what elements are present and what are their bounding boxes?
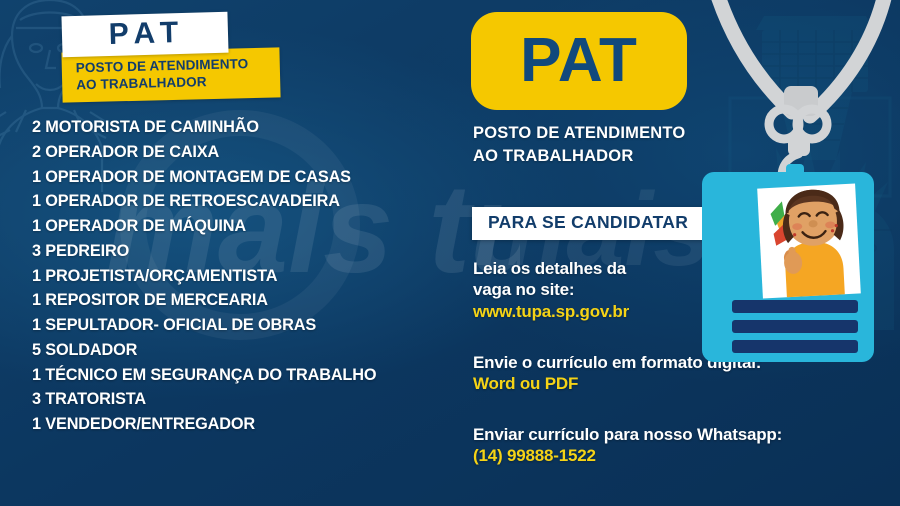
job-list-item: 1 VENDEDOR/ENTREGADOR	[32, 412, 452, 437]
job-list-item: 1 REPOSITOR DE MERCEARIA	[32, 288, 452, 313]
job-vacancy-list: 2 MOTORISTA DE CAMINHÃO 2 OPERADOR DE CA…	[32, 115, 452, 437]
id-card	[702, 164, 874, 362]
left-column: PAT POSTO DE ATENDIMENTO AO TRABALHADOR …	[0, 0, 460, 506]
whatsapp-line1: Enviar currículo para nosso Whatsapp:	[473, 424, 873, 445]
pat-logo-right: PAT	[471, 12, 687, 110]
pat-logo-left: PAT POSTO DE ATENDIMENTO AO TRABALHADOR	[62, 14, 280, 100]
job-list-item: 1 OPERADOR DE MÁQUINA	[32, 214, 452, 239]
job-list-item: 2 OPERADOR DE CAIXA	[32, 140, 452, 165]
pat-acronym-large: PAT	[520, 30, 638, 92]
job-list-item: 1 SEPULTADOR- OFICIAL DE OBRAS	[32, 313, 452, 338]
job-list-item: 1 OPERADOR DE RETROESCAVADEIRA	[32, 189, 452, 214]
poster-canvas: mais tupã! mais t PAT POSTO DE ATENDIMEN…	[0, 0, 900, 506]
apply-banner: PARA SE CANDIDATAR	[472, 207, 704, 240]
job-list-item: 3 TRATORISTA	[32, 387, 452, 412]
id-badge-illustration	[688, 0, 900, 400]
pat-logo-acronym-block: PAT	[61, 12, 228, 58]
pat-subtitle-line2: AO TRABALHADOR	[76, 72, 268, 94]
whatsapp-block: Enviar currículo para nosso Whatsapp: (1…	[473, 424, 873, 467]
lanyard-icon	[716, 0, 886, 191]
whatsapp-phone[interactable]: (14) 99888-1522	[473, 445, 873, 466]
job-list-item: 1 OPERADOR DE MONTAGEM DE CASAS	[32, 165, 452, 190]
badge-text-line	[732, 300, 858, 313]
job-list-item: 5 SOLDADOR	[32, 338, 452, 363]
job-list-item: 3 PEDREIRO	[32, 239, 452, 264]
badge-photo	[757, 184, 861, 299]
pat-acronym: PAT	[80, 17, 215, 51]
apply-banner-label: PARA SE CANDIDATAR	[488, 214, 688, 232]
job-list-item: 1 TÉCNICO EM SEGURANÇA DO TRABALHO	[32, 363, 452, 388]
badge-text-line	[732, 320, 858, 333]
badge-text-line	[732, 340, 858, 353]
job-list-item: 2 MOTORISTA DE CAMINHÃO	[32, 115, 452, 140]
job-list-item: 1 PROJETISTA/ORÇAMENTISTA	[32, 264, 452, 289]
